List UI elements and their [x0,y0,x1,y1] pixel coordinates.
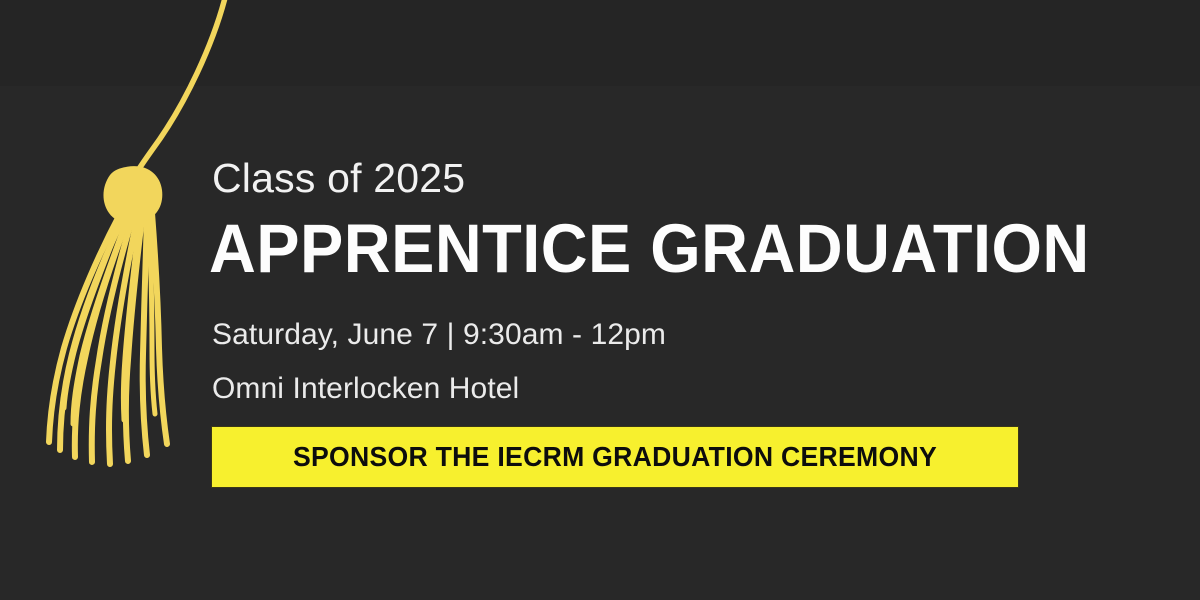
tassel-knot [103,166,162,224]
graduation-event-banner: Class of 2025 APPRENTICE GRADUATION Satu… [0,0,1200,600]
event-datetime: Saturday, June 7 | 9:30am - 12pm [212,320,666,350]
sponsor-cta-button[interactable]: SPONSOR THE IECRM GRADUATION CEREMONY [212,427,1018,487]
event-venue: Omni Interlocken Hotel [212,374,519,404]
eyebrow-text: Class of 2025 [212,158,465,199]
sponsor-cta-label: SPONSOR THE IECRM GRADUATION CEREMONY [293,443,937,471]
page-title: APPRENTICE GRADUATION [209,214,1090,283]
